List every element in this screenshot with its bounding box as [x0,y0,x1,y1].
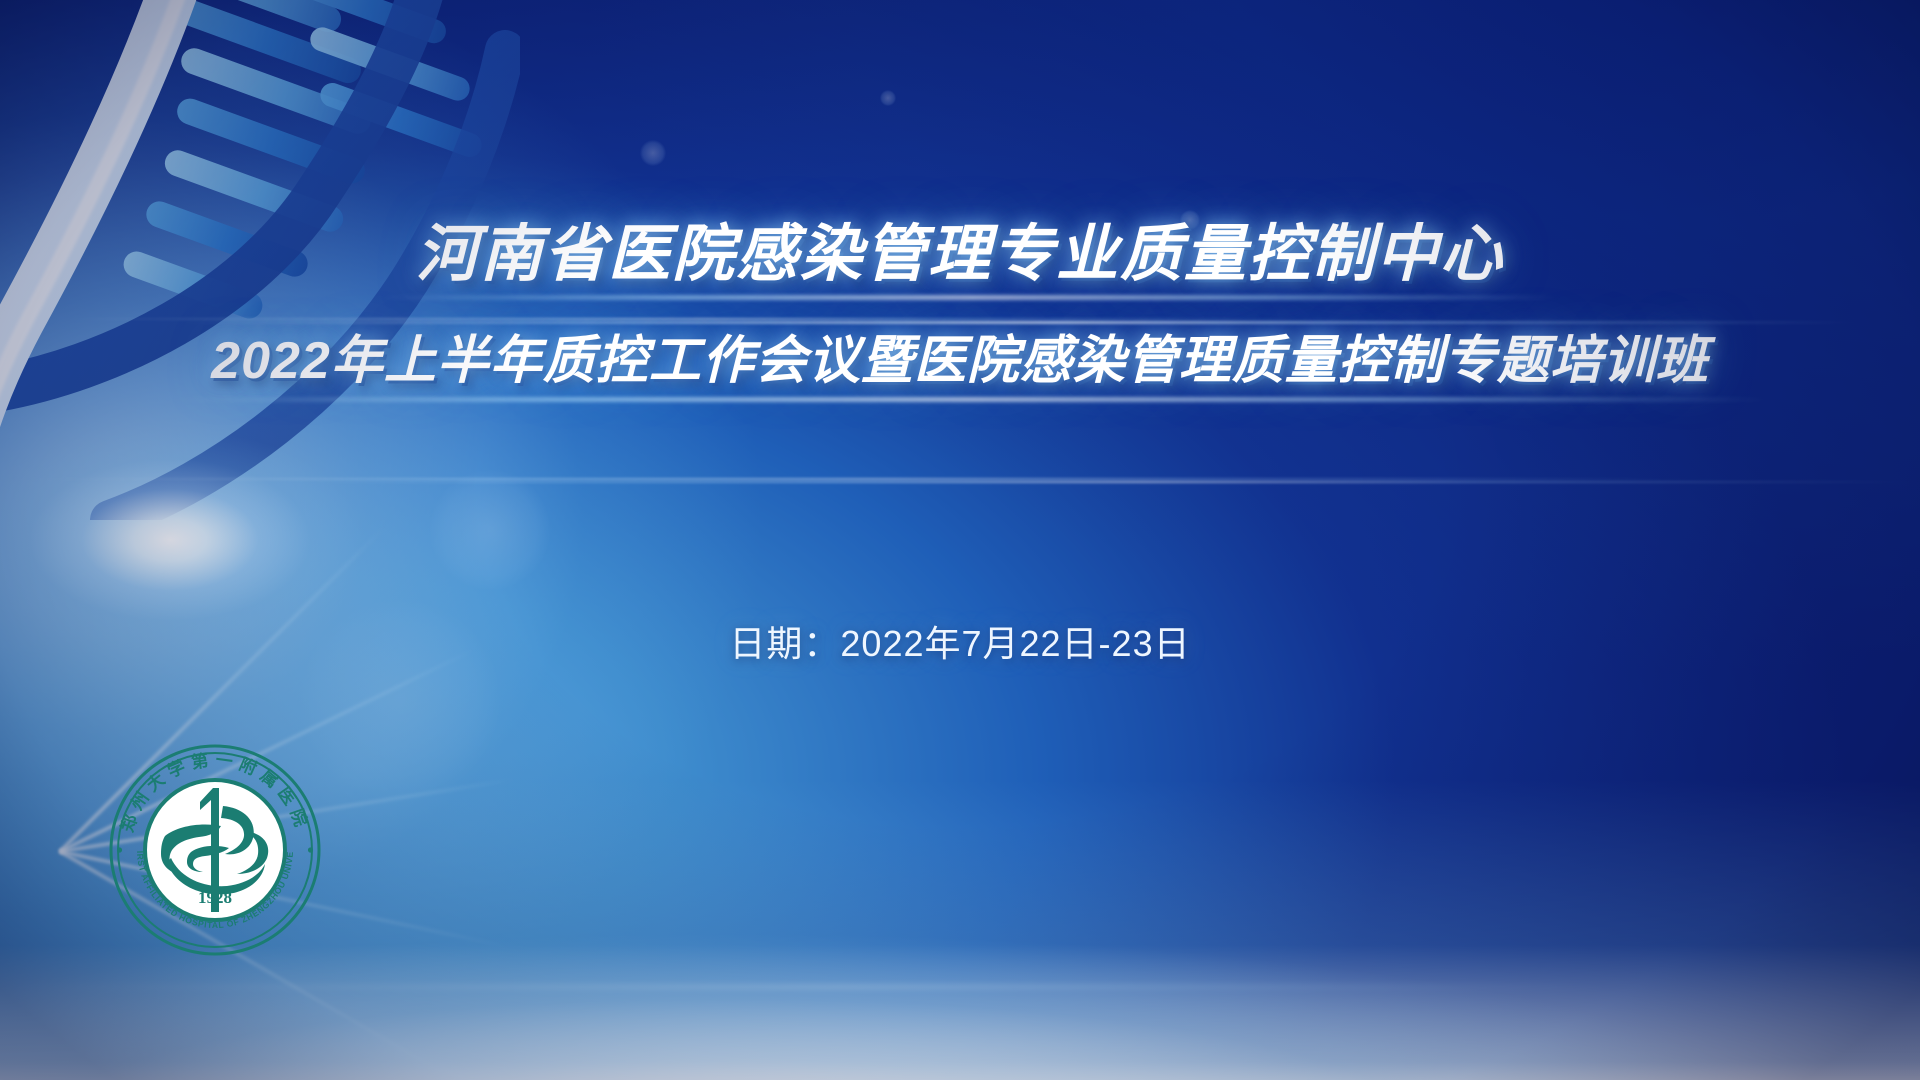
logo-founded-year: 1928 [198,888,232,907]
hospital-logo: 郑州大学第一附属医院 THE FIRST AFFILIATED HOSPITAL… [105,740,325,960]
conference-title-slide: 河南省医院感染管理专业质量控制中心 2022年上半年质控工作会议暨医院感染管理质… [0,0,1920,1080]
